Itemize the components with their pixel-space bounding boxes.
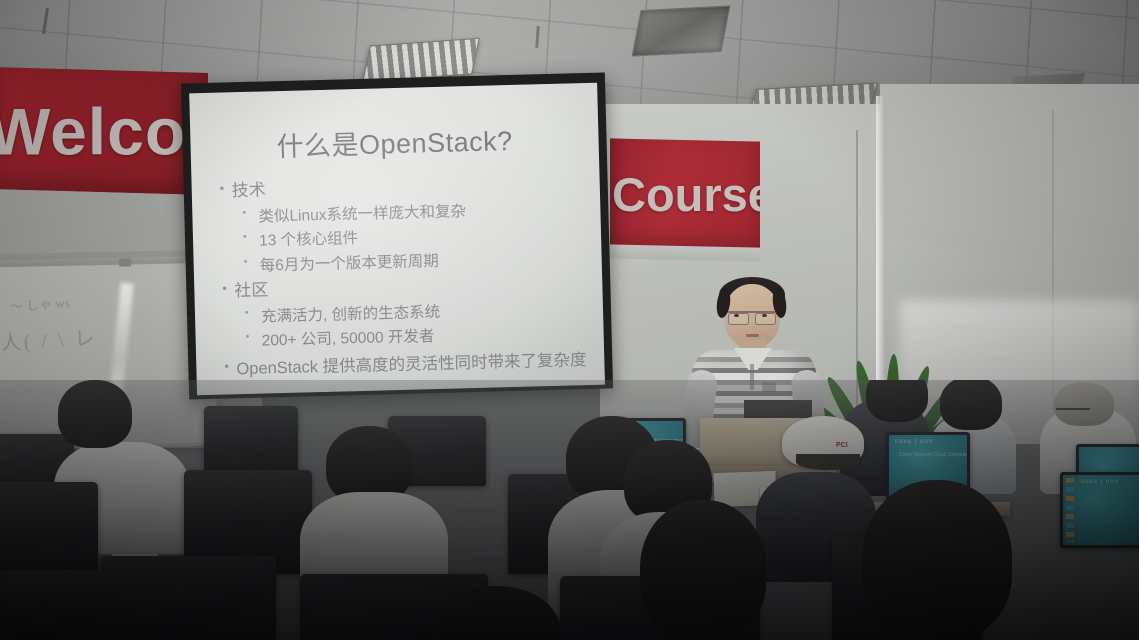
audience-shadow-gradient: [0, 380, 1139, 640]
slide-title: 什么是OpenStack?: [190, 117, 599, 167]
banner-course-text: Course: [612, 167, 760, 222]
audience-area: nova | non China Telecom Cloud Computing…: [0, 380, 1139, 640]
banner-welcome: Welcom: [0, 67, 208, 195]
presenter-eye: [734, 314, 739, 317]
whiteboard-scribble-line-2: 人( / \ レ: [0, 321, 98, 355]
projection-screen: 什么是OpenStack? 技术 类似Linux系统一样庞大和复杂 13 个核心…: [189, 83, 605, 396]
presenter-eye: [762, 314, 767, 317]
banner-welcome-text: Welcom: [0, 93, 208, 169]
whiteboard-scribble-line-1: ～ しゃ ws: [9, 292, 70, 315]
slide-bullet: OpenStack 提供高度的灵活性同时带来了复杂度: [224, 349, 594, 381]
whiteboard-clip: [119, 258, 131, 266]
presenter-mouth: [746, 334, 759, 337]
classroom-photo: Welcom Course ～ しゃ ws 人( / \ レ 什么是OpenSt…: [0, 0, 1139, 640]
projection-screen-frame: 什么是OpenStack? 技术 类似Linux系统一样庞大和复杂 13 个核心…: [181, 73, 613, 400]
banner-course: Course: [610, 138, 760, 249]
slide-body: 技术 类似Linux系统一样庞大和复杂 13 个核心组件 每6月为一个版本更新周…: [219, 171, 594, 385]
presenter-glasses-icon: [727, 311, 777, 323]
